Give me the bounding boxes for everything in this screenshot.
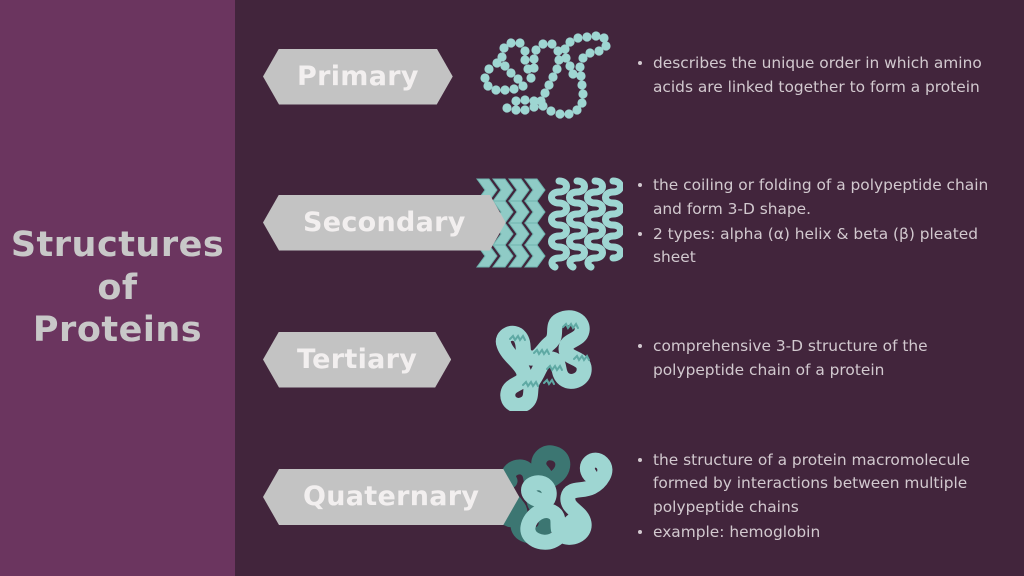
bullets-tertiary: comprehensive 3-D structure of the polyp… (630, 335, 1024, 383)
list-item: the structure of a protein macromolecule… (636, 449, 1016, 520)
bullets-secondary: the coiling or folding of a polypeptide … (630, 174, 1024, 270)
row-tertiary: Tertiary (235, 297, 1024, 422)
folded-globular-protein-icon (490, 309, 605, 411)
list-item: example: hemoglobin (636, 521, 1016, 545)
page-title: Structures of Proteins (1, 224, 234, 352)
title-panel: Structures of Proteins (0, 0, 235, 576)
list-item: the coiling or folding of a polypeptide … (636, 174, 1016, 221)
banner-cell-primary: Primary (235, 49, 465, 105)
row-primary: Primary (235, 14, 1024, 139)
banner-cell-secondary: Secondary (235, 195, 465, 251)
beaded-chain-icon (473, 22, 623, 132)
slide-canvas: Structures of Proteins Primary (0, 0, 1024, 576)
structure-rows: Primary (235, 0, 1024, 576)
figure-tertiary (465, 309, 630, 411)
bullets-quaternary: the structure of a protein macromolecule… (630, 449, 1024, 545)
banner-quaternary[interactable]: Quaternary (263, 469, 519, 525)
banner-primary[interactable]: Primary (263, 49, 453, 105)
list-item: describes the unique order in which amin… (636, 52, 1016, 99)
row-quaternary: Quaternary the (235, 432, 1024, 562)
list-item: 2 types: alpha (α) helix & beta (β) plea… (636, 223, 1016, 270)
list-item: comprehensive 3-D structure of the polyp… (636, 335, 1016, 382)
figure-primary (465, 22, 630, 132)
banner-secondary[interactable]: Secondary (263, 195, 506, 251)
row-secondary: Secondary (235, 160, 1024, 285)
banner-cell-quaternary: Quaternary (235, 469, 465, 525)
banner-cell-tertiary: Tertiary (235, 332, 465, 388)
banner-tertiary[interactable]: Tertiary (263, 332, 451, 388)
bullets-primary: describes the unique order in which amin… (630, 52, 1024, 100)
